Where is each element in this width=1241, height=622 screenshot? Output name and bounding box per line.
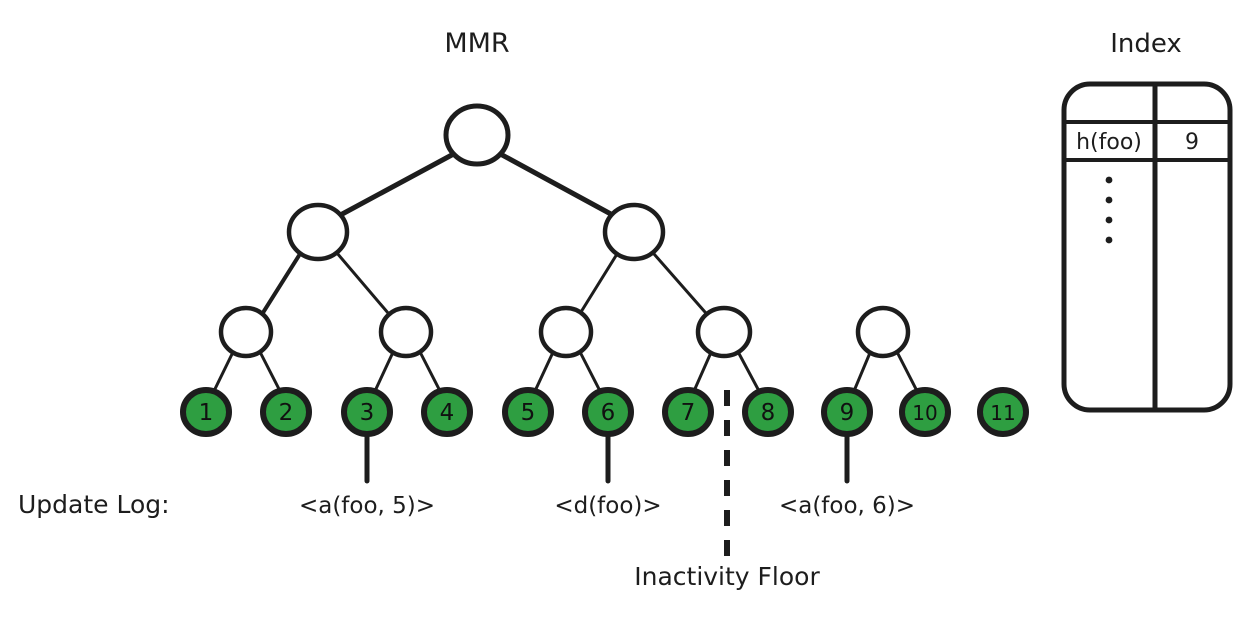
leaf-label: 7 [681,400,696,426]
leaf-label: 6 [601,400,616,426]
leaf-node[interactable]: 2 [263,390,309,434]
edge-root-left [333,150,461,219]
update-log-entry-1: <a(foo, 5)> [299,493,435,519]
root-node [446,106,508,164]
leaf-label: 2 [279,400,294,426]
edge-p34-leaf4 [418,348,440,391]
index-table: Index h(foo) 9 [1064,29,1230,410]
index-row-value: 9 [1185,130,1199,155]
parent-5-6-circle [541,308,591,356]
mmr-diagram: MMR 1234567891011 [0,0,1241,622]
edge-p12-leaf2 [258,348,280,391]
leaf-label: 11 [990,401,1015,425]
leaf-label: 4 [440,400,455,426]
edge-root-right [493,150,620,219]
root-circle [446,106,508,164]
leaf-node[interactable]: 7 [665,390,711,434]
leaf-node[interactable]: 4 [424,390,470,434]
parent-1-2-circle [221,308,271,356]
leaf-node[interactable]: 3 [344,390,390,434]
index-row-key: h(foo) [1076,130,1142,155]
leaf-node[interactable]: 11 [980,390,1026,434]
node-right-circle [605,205,663,259]
edge-left-to-p34 [331,246,394,320]
inactivity-floor-label: Inactivity Floor [634,562,820,591]
leaf-nodes: 1234567891011 [183,390,1026,434]
parent-9-10-circle [858,308,908,356]
index-title: Index [1110,29,1182,59]
leaf-node[interactable]: 1 [183,390,229,434]
leaf-node[interactable]: 9 [824,390,870,434]
edge-right-to-p56 [576,246,622,320]
mmr-title: MMR [444,28,509,59]
edge-right-to-p78 [647,246,712,320]
edge-p910-leaf10 [895,348,917,391]
leaf-node[interactable]: 8 [745,390,791,434]
leaf-label: 5 [521,400,536,426]
internal-nodes-level2 [221,308,908,356]
parent-3-4-circle [381,308,431,356]
leaf-node[interactable]: 10 [902,390,948,434]
leaf-label: 9 [840,400,855,426]
update-log-label: Update Log: [18,490,170,519]
node-left-circle [289,205,347,259]
leaf-label: 1 [199,400,214,426]
leaf-label: 8 [761,400,776,426]
leaf-node[interactable]: 6 [585,390,631,434]
edge-left-to-p12 [259,246,305,319]
update-log-ticks [367,437,847,481]
index-ellipsis-icon [1106,177,1113,244]
edge-p56-leaf6 [578,348,600,391]
update-log-entry-3: <a(foo, 6)> [779,493,915,519]
update-log-entry-2: <d(foo)> [554,493,661,519]
leaf-node[interactable]: 5 [505,390,551,434]
parent-7-8-circle [698,308,750,356]
edge-p78-leaf8 [736,348,759,391]
leaf-label: 10 [912,401,937,425]
leaf-label: 3 [360,400,375,426]
